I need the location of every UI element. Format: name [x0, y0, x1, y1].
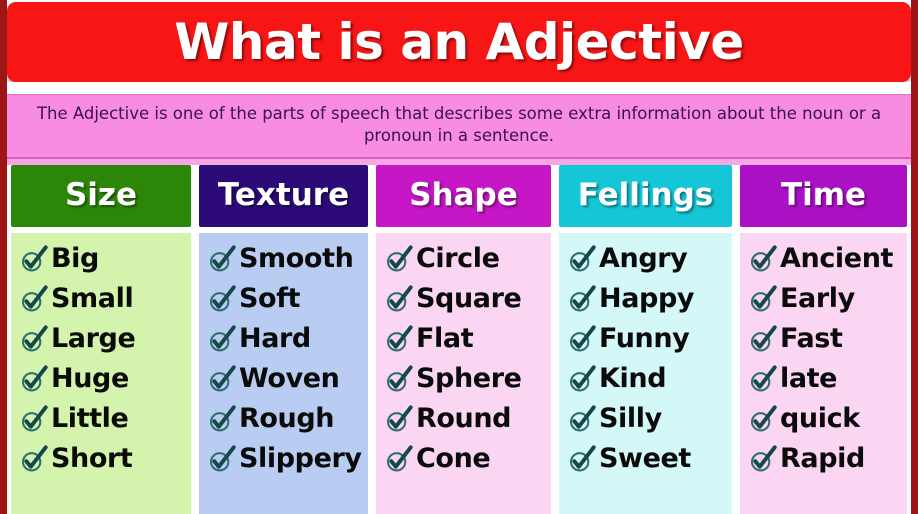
list-item[interactable]: Slippery — [207, 439, 368, 479]
list-item-label: Rough — [239, 405, 334, 432]
list-item[interactable]: Cone — [384, 439, 551, 479]
column-header-label: Texture — [218, 180, 349, 211]
list-item[interactable]: Flat — [384, 319, 551, 359]
list-item-label: Angry — [599, 245, 687, 272]
list-item-label: Large — [51, 325, 135, 352]
list-item[interactable]: Square — [384, 279, 551, 319]
list-item[interactable]: quick — [748, 399, 907, 439]
column-body-size: Big Small Large Huge Little Short — [11, 233, 191, 514]
column-header-shape: Shape — [376, 165, 551, 227]
check-circle-icon — [19, 284, 49, 314]
list-item-label: Smooth — [239, 245, 353, 272]
list-item-label: Happy — [599, 285, 694, 312]
list-item-label: Square — [416, 285, 521, 312]
check-circle-icon — [567, 364, 597, 394]
adjective-poster: What is an Adjective The Adjective is on… — [0, 0, 918, 514]
category-column-fellings: Fellings Angry Happy Funny Kind Silly Sw… — [555, 165, 736, 514]
list-item-label: Silly — [599, 405, 662, 432]
list-item-label: Soft — [239, 285, 300, 312]
check-circle-icon — [384, 404, 414, 434]
check-circle-icon — [207, 244, 237, 274]
check-circle-icon — [748, 404, 778, 434]
list-item[interactable]: Little — [19, 399, 191, 439]
check-circle-icon — [384, 284, 414, 314]
list-item-label: Fast — [780, 325, 842, 352]
check-circle-icon — [748, 444, 778, 474]
check-circle-icon — [384, 324, 414, 354]
list-item[interactable]: Angry — [567, 239, 732, 279]
column-header-size: Size — [11, 165, 191, 227]
column-header-label: Fellings — [578, 180, 714, 211]
check-circle-icon — [19, 324, 49, 354]
list-item[interactable]: Short — [19, 439, 191, 479]
column-header-label: Time — [781, 180, 866, 211]
list-item[interactable]: Soft — [207, 279, 368, 319]
list-item-label: Circle — [416, 245, 500, 272]
list-item[interactable]: Large — [19, 319, 191, 359]
list-item[interactable]: Small — [19, 279, 191, 319]
list-item-label: Ancient — [780, 245, 893, 272]
list-item-label: Big — [51, 245, 99, 272]
title-banner: What is an Adjective — [7, 2, 911, 82]
list-item[interactable]: Sweet — [567, 439, 732, 479]
check-circle-icon — [567, 444, 597, 474]
check-circle-icon — [19, 364, 49, 394]
column-body-fellings: Angry Happy Funny Kind Silly Sweet — [559, 233, 732, 514]
list-item-label: Little — [51, 405, 128, 432]
list-item[interactable]: Early — [748, 279, 907, 319]
list-item-label: Small — [51, 285, 133, 312]
category-column-shape: Shape Circle Square Flat Sphere Round Co… — [372, 165, 555, 514]
list-item-label: Sphere — [416, 365, 522, 392]
list-item[interactable]: Rough — [207, 399, 368, 439]
column-header-label: Shape — [409, 180, 518, 211]
list-item[interactable]: Round — [384, 399, 551, 439]
list-item[interactable]: Ancient — [748, 239, 907, 279]
list-item-label: Early — [780, 285, 855, 312]
list-item-label: Kind — [599, 365, 666, 392]
list-item[interactable]: Fast — [748, 319, 907, 359]
adjective-category-table: Size Big Small Large Huge Little Short T… — [7, 165, 911, 514]
check-circle-icon — [19, 244, 49, 274]
column-header-fellings: Fellings — [559, 165, 732, 227]
column-body-time: Ancient Early Fast late quick Rapid — [740, 233, 907, 514]
check-circle-icon — [207, 404, 237, 434]
column-header-texture: Texture — [199, 165, 368, 227]
check-circle-icon — [567, 404, 597, 434]
list-item[interactable]: Hard — [207, 319, 368, 359]
list-item-label: late — [780, 365, 837, 392]
title-subtitle-divider — [7, 82, 911, 94]
category-column-time: Time Ancient Early Fast late quick Rapid — [736, 165, 911, 514]
check-circle-icon — [748, 284, 778, 314]
list-item[interactable]: Big — [19, 239, 191, 279]
list-item-label: Round — [416, 405, 511, 432]
list-item[interactable]: Funny — [567, 319, 732, 359]
check-circle-icon — [567, 284, 597, 314]
list-item[interactable]: Happy — [567, 279, 732, 319]
check-circle-icon — [384, 444, 414, 474]
list-item-label: Woven — [239, 365, 340, 392]
column-body-texture: Smooth Soft Hard Woven Rough Slippery — [199, 233, 368, 514]
list-item[interactable]: Sphere — [384, 359, 551, 399]
list-item-label: Rapid — [780, 445, 865, 472]
list-item-label: Funny — [599, 325, 689, 352]
list-item[interactable]: late — [748, 359, 907, 399]
check-circle-icon — [19, 444, 49, 474]
list-item[interactable]: Woven — [207, 359, 368, 399]
check-circle-icon — [748, 364, 778, 394]
list-item-label: Hard — [239, 325, 311, 352]
page-title: What is an Adjective — [174, 17, 744, 67]
list-item-label: quick — [780, 405, 860, 432]
definition-text: The Adjective is one of the parts of spe… — [37, 104, 881, 145]
check-circle-icon — [567, 244, 597, 274]
list-item-label: Huge — [51, 365, 129, 392]
column-header-label: Size — [65, 180, 137, 211]
check-circle-icon — [207, 444, 237, 474]
check-circle-icon — [748, 244, 778, 274]
list-item[interactable]: Circle — [384, 239, 551, 279]
check-circle-icon — [748, 324, 778, 354]
column-body-shape: Circle Square Flat Sphere Round Cone — [376, 233, 551, 514]
list-item[interactable]: Rapid — [748, 439, 907, 479]
column-header-time: Time — [740, 165, 907, 227]
check-circle-icon — [19, 404, 49, 434]
category-column-size: Size Big Small Large Huge Little Short — [7, 165, 195, 514]
list-item[interactable]: Smooth — [207, 239, 368, 279]
list-item[interactable]: Huge — [19, 359, 191, 399]
check-circle-icon — [207, 324, 237, 354]
check-circle-icon — [384, 364, 414, 394]
list-item-label: Slippery — [239, 445, 362, 472]
list-item-label: Short — [51, 445, 132, 472]
category-column-texture: Texture Smooth Soft Hard Woven Rough Sli… — [195, 165, 372, 514]
list-item-label: Flat — [416, 325, 473, 352]
list-item-label: Cone — [416, 445, 490, 472]
list-item[interactable]: Kind — [567, 359, 732, 399]
list-item-label: Sweet — [599, 445, 691, 472]
check-circle-icon — [567, 324, 597, 354]
definition-banner: The Adjective is one of the parts of spe… — [7, 94, 911, 159]
check-circle-icon — [207, 364, 237, 394]
check-circle-icon — [384, 244, 414, 274]
list-item[interactable]: Silly — [567, 399, 732, 439]
check-circle-icon — [207, 284, 237, 314]
